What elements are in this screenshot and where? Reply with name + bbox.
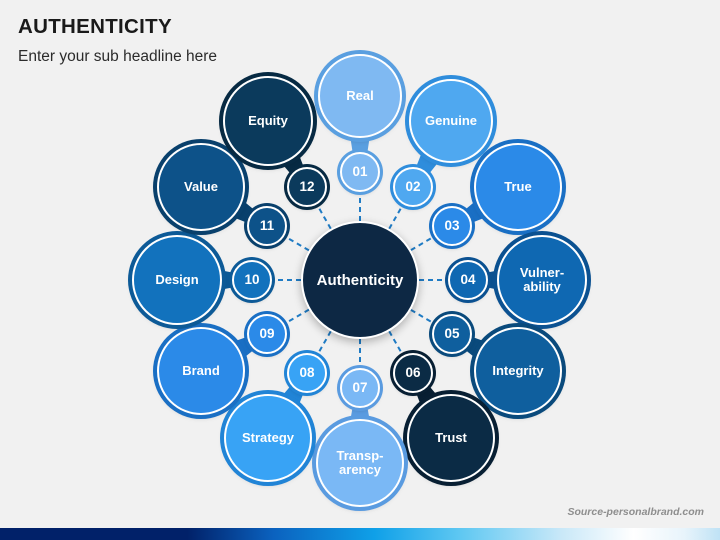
step-number-07[interactable]: 07 [340, 368, 380, 408]
topic-bubble-true[interactable]: True [474, 143, 562, 231]
center-hub[interactable]: Authenticity [301, 221, 419, 339]
source-credit: Source-personalbrand.com [567, 506, 704, 518]
topic-bubble-vulnerability[interactable]: Vulner-ability [497, 235, 587, 325]
step-number-label: 05 [444, 327, 459, 342]
step-number-label: 08 [299, 366, 314, 381]
step-number-label: 03 [444, 219, 459, 234]
topic-bubble-label: Value [180, 180, 222, 194]
step-number-09[interactable]: 09 [247, 314, 287, 354]
slide-canvas: AUTHENTICITY Enter your sub headline her… [0, 0, 720, 540]
topic-bubble-label: Integrity [488, 364, 547, 378]
hub-and-spoke-diagram: Real01Genuine02True03Vulner-ability04Int… [0, 0, 720, 540]
step-number-label: 07 [352, 381, 367, 396]
step-number-label: 11 [260, 219, 274, 234]
center-hub-label: Authenticity [317, 272, 404, 289]
topic-bubble-label: Equity [244, 114, 292, 128]
topic-bubble-label: Brand [178, 364, 224, 378]
topic-bubble-label: Real [342, 89, 377, 103]
topic-bubble-real[interactable]: Real [318, 54, 402, 138]
topic-bubble-value[interactable]: Value [157, 143, 245, 231]
step-number-08[interactable]: 08 [287, 353, 327, 393]
step-number-label: 04 [460, 273, 475, 288]
topic-bubble-label: Strategy [238, 431, 298, 445]
topic-bubble-brand[interactable]: Brand [157, 327, 245, 415]
topic-bubble-label: True [500, 180, 535, 194]
step-number-label: 10 [244, 273, 259, 288]
step-number-11[interactable]: 11 [247, 206, 287, 246]
topic-bubble-design[interactable]: Design [132, 235, 222, 325]
step-number-03[interactable]: 03 [432, 206, 472, 246]
step-number-04[interactable]: 04 [448, 260, 488, 300]
step-number-06[interactable]: 06 [393, 353, 433, 393]
topic-bubble-label: Vulner-ability [516, 266, 568, 294]
step-number-label: 06 [405, 366, 420, 381]
step-number-02[interactable]: 02 [393, 167, 433, 207]
topic-bubble-label: Genuine [421, 114, 481, 128]
topic-bubble-transparency[interactable]: Transp-arency [316, 419, 404, 507]
step-number-12[interactable]: 12 [287, 167, 327, 207]
topic-bubble-strategy[interactable]: Strategy [224, 394, 312, 482]
step-number-label: 02 [405, 180, 420, 195]
step-number-label: 12 [299, 180, 314, 195]
step-number-10[interactable]: 10 [232, 260, 272, 300]
step-number-01[interactable]: 01 [340, 152, 380, 192]
step-number-label: 09 [259, 327, 274, 342]
topic-bubble-label: Design [151, 273, 202, 287]
topic-bubble-label: Trust [431, 431, 471, 445]
bottom-accent-bar [0, 528, 720, 540]
topic-bubble-integrity[interactable]: Integrity [474, 327, 562, 415]
step-number-label: 01 [352, 165, 367, 180]
step-number-05[interactable]: 05 [432, 314, 472, 354]
topic-bubble-genuine[interactable]: Genuine [409, 79, 493, 163]
topic-bubble-label: Transp-arency [333, 449, 388, 477]
topic-bubble-trust[interactable]: Trust [407, 394, 495, 482]
topic-bubble-equity[interactable]: Equity [223, 76, 313, 166]
